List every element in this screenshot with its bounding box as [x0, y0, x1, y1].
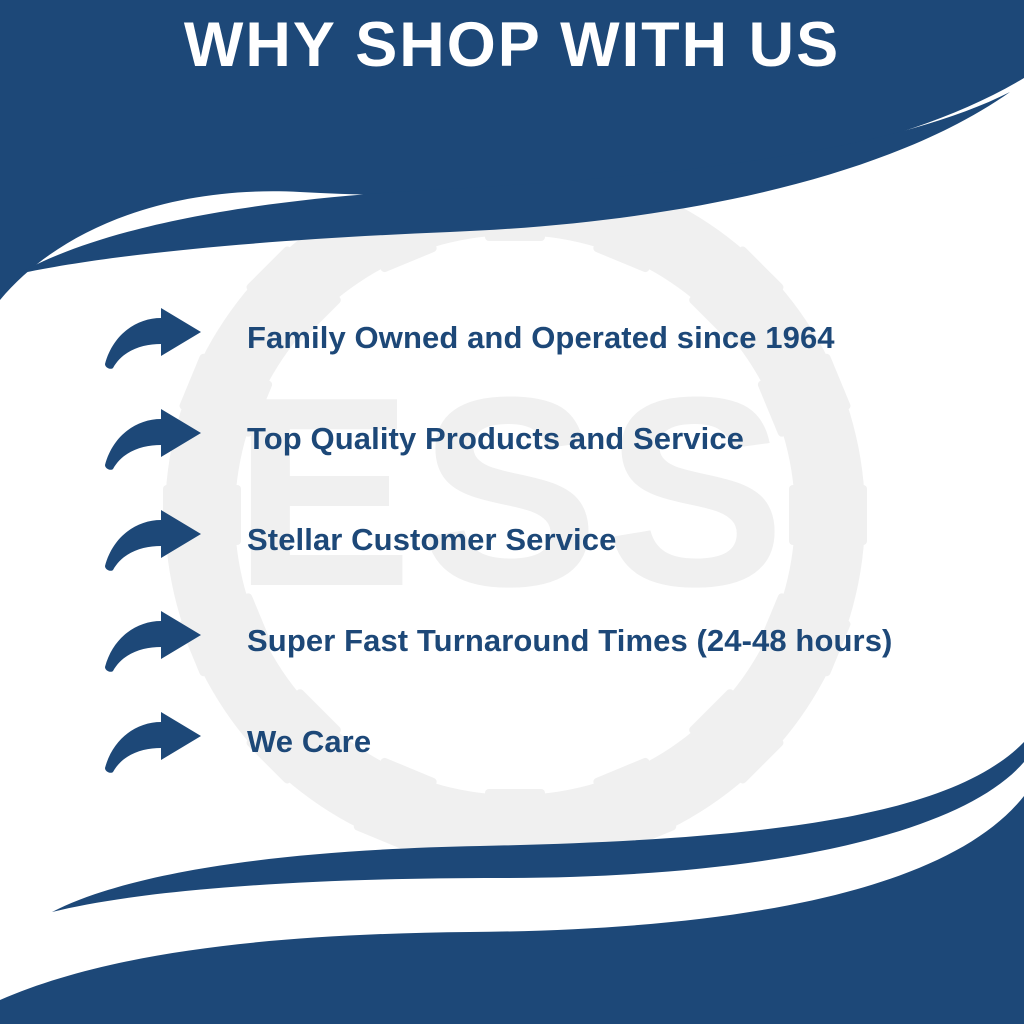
curved-arrow-right-icon: [103, 308, 203, 370]
why-shop-with-us-poster: ESS WHY SHOP WITH US Family Owned and Op…: [0, 0, 1024, 1024]
benefit-label: Top Quality Products and Service: [247, 422, 1024, 456]
benefit-item: Stellar Customer Service: [0, 490, 1024, 591]
benefit-label: Family Owned and Operated since 1964: [247, 321, 1024, 355]
curved-arrow-right-icon: [103, 510, 203, 572]
benefit-item: We Care: [0, 692, 1024, 793]
benefits-list: Family Owned and Operated since 1964 Top…: [0, 288, 1024, 793]
benefit-label: Super Fast Turnaround Times (24-48 hours…: [247, 624, 1024, 658]
curved-arrow-right-icon: [103, 712, 203, 774]
curved-arrow-right-icon: [103, 409, 203, 471]
benefit-item: Family Owned and Operated since 1964: [0, 288, 1024, 389]
benefit-item: Top Quality Products and Service: [0, 389, 1024, 490]
benefit-item: Super Fast Turnaround Times (24-48 hours…: [0, 591, 1024, 692]
page-title: WHY SHOP WITH US: [0, 14, 1024, 77]
curved-arrow-right-icon: [103, 611, 203, 673]
benefit-label: Stellar Customer Service: [247, 523, 1024, 557]
benefit-label: We Care: [247, 725, 1024, 759]
